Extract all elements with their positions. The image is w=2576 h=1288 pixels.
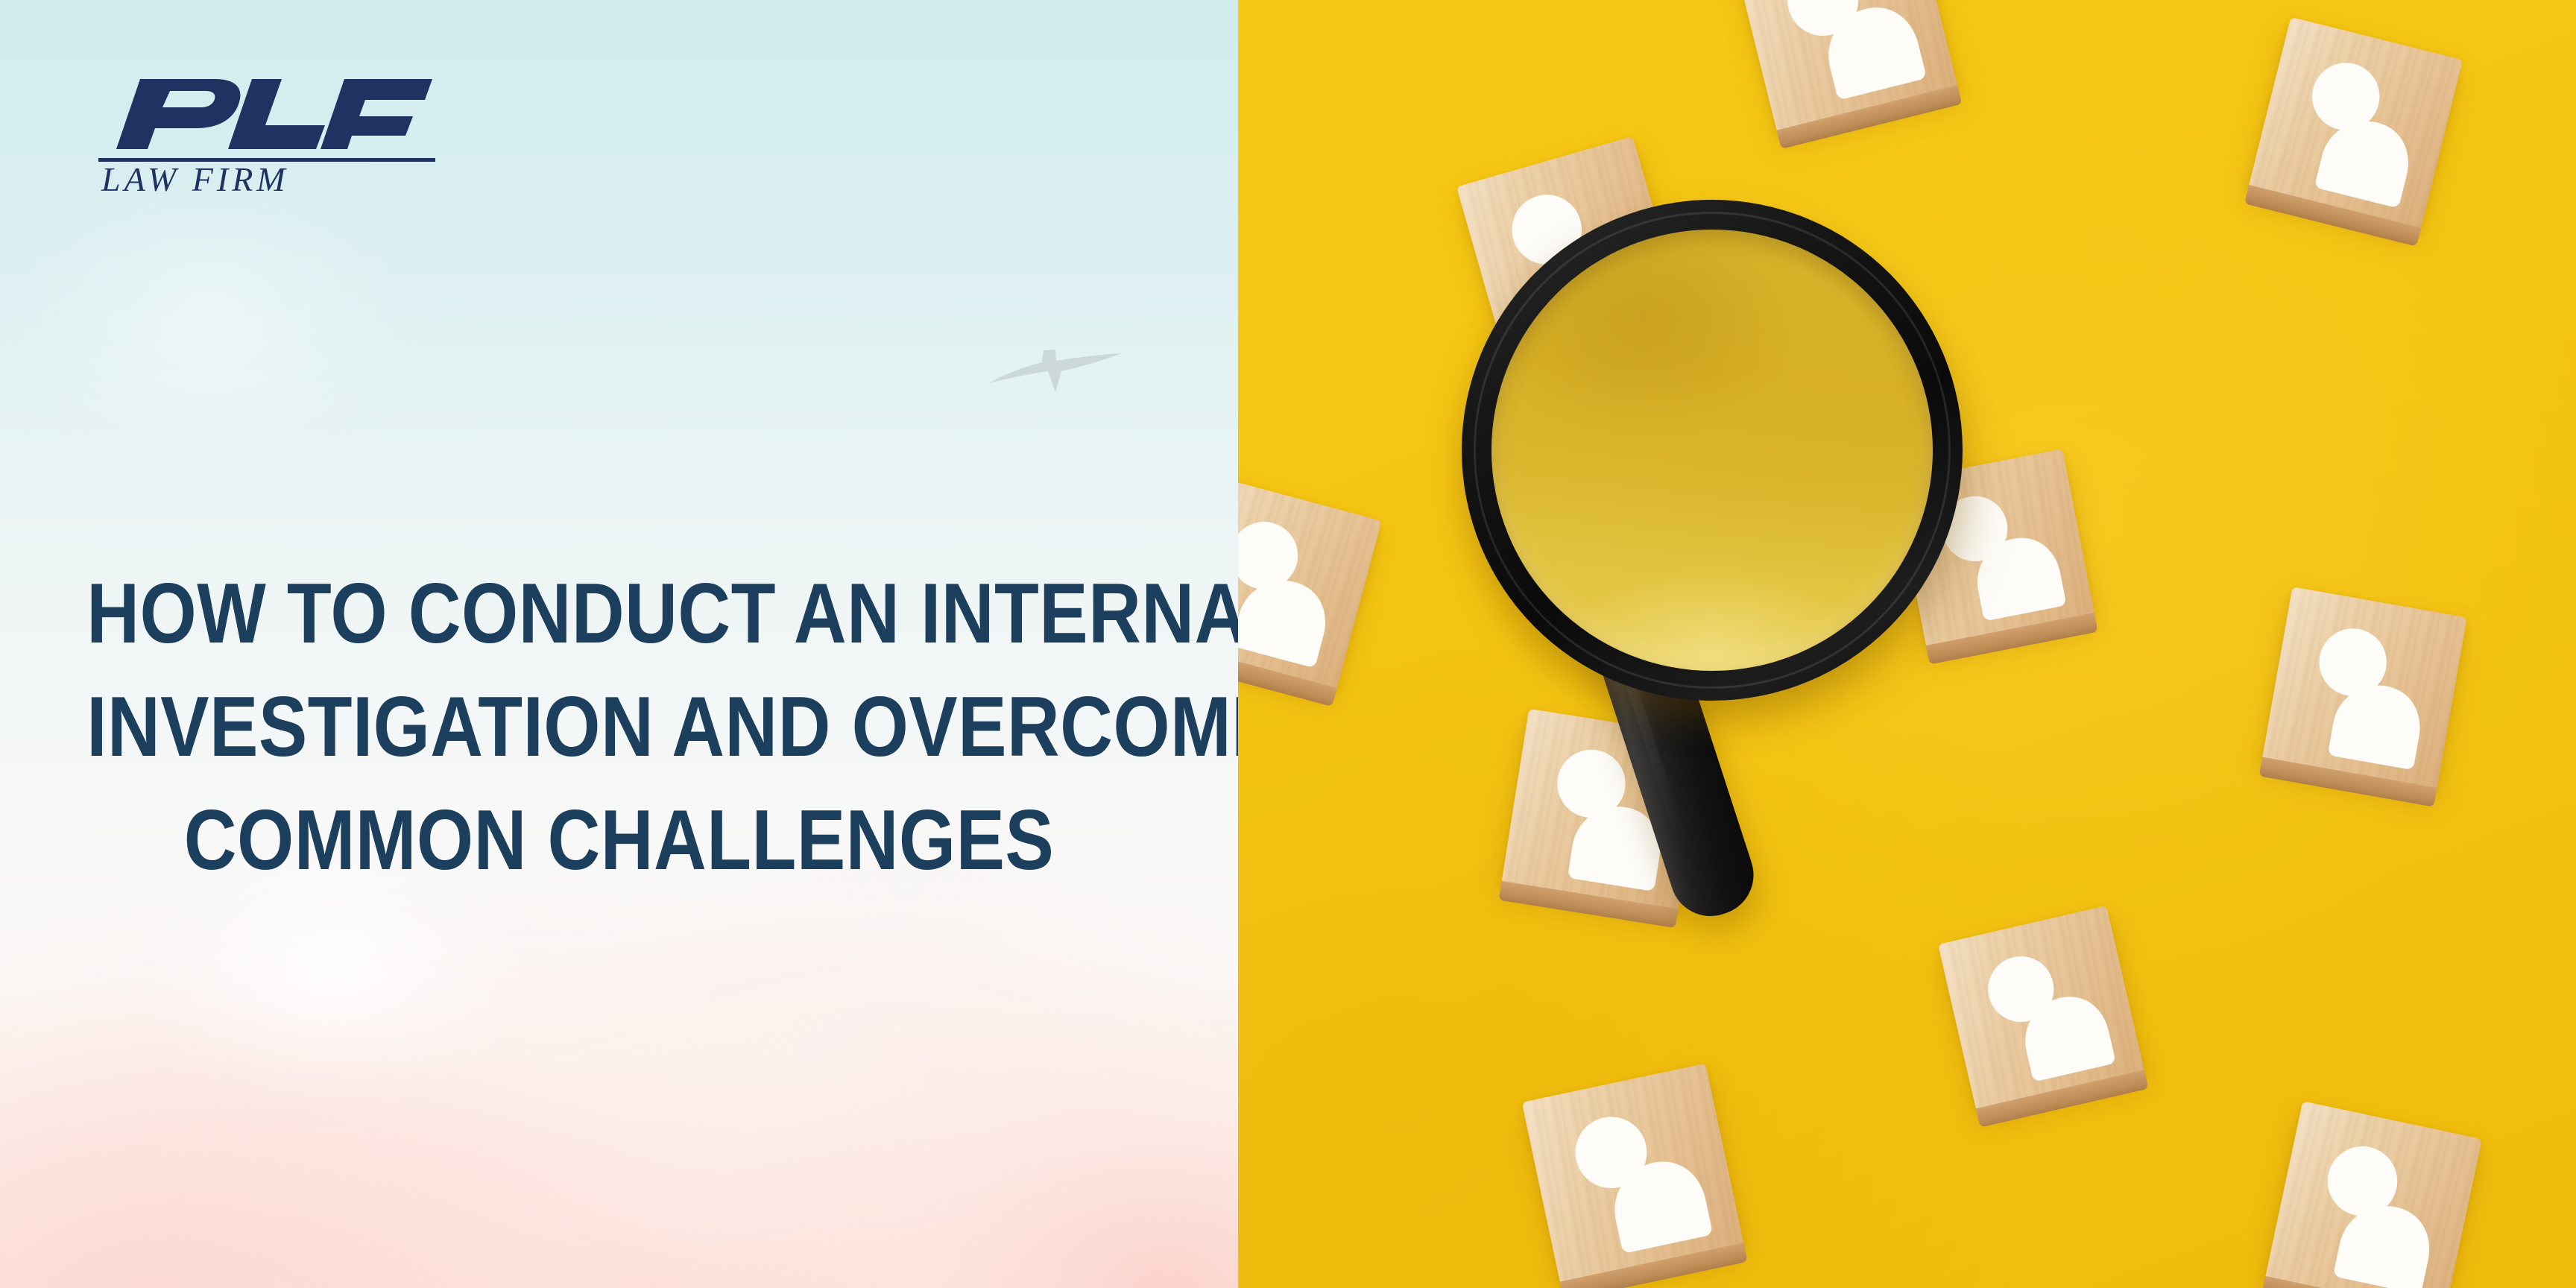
person-icon xyxy=(2261,587,2467,792)
lens-highlight xyxy=(1527,521,1897,671)
hero-photo xyxy=(1238,0,2576,1288)
plf-law-firm-logo[interactable]: LAW FIRM xyxy=(82,66,455,200)
blog-banner: LAW FIRM HOW TO CONDUCT AN INTERNAL INVE… xyxy=(0,0,2576,1288)
page-title: HOW TO CONDUCT AN INTERNAL INVESTIGATION… xyxy=(86,558,1151,897)
wooden-block xyxy=(2261,587,2467,792)
headline-line-2: INVESTIGATION AND OVERCOME xyxy=(86,671,1151,784)
title-panel: LAW FIRM HOW TO CONDUCT AN INTERNAL INVE… xyxy=(0,0,1238,1288)
lens-inner-shadow xyxy=(1491,230,1818,468)
headline-line-3: COMMON CHALLENGES xyxy=(86,784,1151,897)
magnifying-glass-icon xyxy=(1462,200,1963,701)
flying-bird-silhouette-icon xyxy=(984,335,1126,395)
wooden-block xyxy=(1522,1064,1745,1287)
svg-text:LAW FIRM: LAW FIRM xyxy=(101,160,289,198)
headline-line-1: HOW TO CONDUCT AN INTERNAL xyxy=(86,558,1151,671)
magnifier-rim xyxy=(1462,200,1963,701)
magnifier-lens xyxy=(1491,230,1933,671)
person-icon xyxy=(1522,1064,1745,1287)
